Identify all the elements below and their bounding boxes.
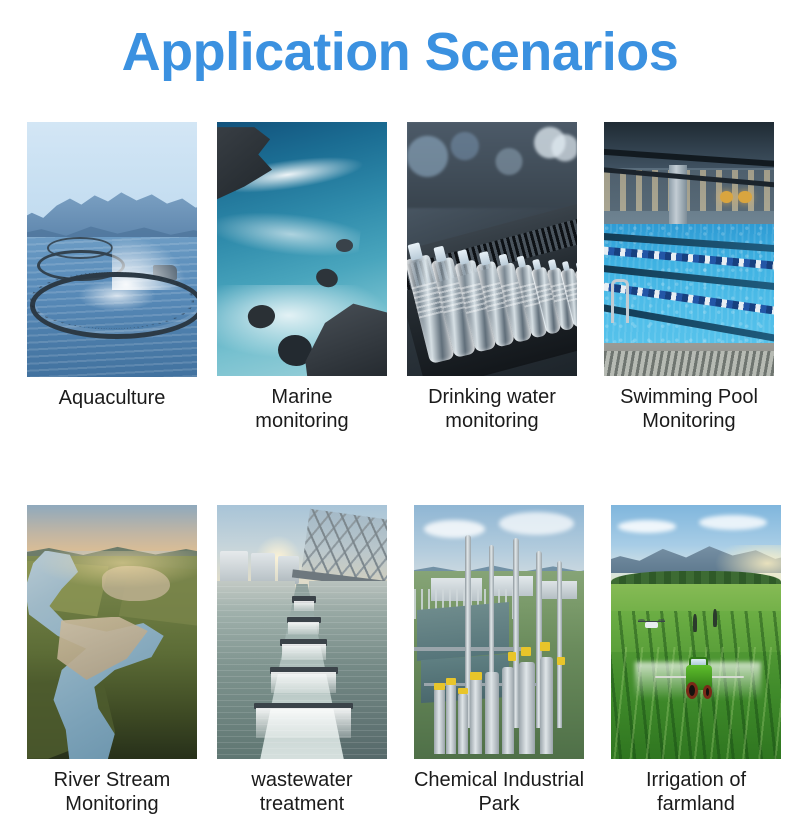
caption-line: Chemical Industrial <box>414 769 584 791</box>
scenario-card-swimming-pool-monitoring[interactable]: Swimming Pool Monitoring <box>596 122 782 434</box>
caption-drinking-water-monitoring: Drinking water monitoring <box>399 385 585 434</box>
caption-chemical-industrial-park: Chemical Industrial Park <box>406 768 592 817</box>
wastewater-treatment-photo <box>217 505 387 759</box>
scenario-card-irrigation-of-farmland[interactable]: Irrigation of farmland <box>610 505 782 817</box>
scenario-card-drinking-water-monitoring[interactable]: Drinking water monitoring <box>406 122 578 434</box>
caption-line: monitoring <box>255 410 348 432</box>
caption-line: Drinking water <box>428 386 556 408</box>
marine-monitoring-photo <box>217 122 387 376</box>
scenario-row-1: Aquaculture Marine <box>26 122 782 434</box>
caption-line: Monitoring <box>65 793 158 815</box>
caption-line: farmland <box>657 793 735 815</box>
caption-line: treatment <box>260 793 344 815</box>
scenario-card-chemical-industrial-park[interactable]: Chemical Industrial Park <box>406 505 592 817</box>
caption-line: Marine <box>271 386 332 408</box>
agricultural-drone <box>638 617 665 632</box>
caption-line: Aquaculture <box>59 387 166 409</box>
scenario-grid: Aquaculture Marine <box>26 122 782 817</box>
caption-line: River Stream <box>54 769 171 791</box>
caption-line: Irrigation of <box>646 769 746 791</box>
chemical-industrial-park-photo <box>414 505 584 759</box>
tractor <box>679 657 720 700</box>
caption-line: Monitoring <box>642 410 735 432</box>
caption-aquaculture: Aquaculture <box>19 386 205 410</box>
caption-river-stream-monitoring: River Stream Monitoring <box>19 768 205 817</box>
scenario-card-marine-monitoring[interactable]: Marine monitoring <box>216 122 388 434</box>
caption-line: monitoring <box>445 410 538 432</box>
scenario-card-aquaculture[interactable]: Aquaculture <box>26 122 198 410</box>
caption-irrigation-of-farmland: Irrigation of farmland <box>603 768 789 817</box>
caption-marine-monitoring: Marine monitoring <box>209 385 395 434</box>
caption-line: Swimming Pool <box>620 386 758 408</box>
river-stream-monitoring-photo <box>27 505 197 759</box>
caption-wastewater-treatment: wastewater treatment <box>209 768 395 817</box>
page-title: Application Scenarios <box>0 24 800 81</box>
caption-line: wastewater <box>251 769 352 791</box>
application-scenarios-page: Application Scenarios <box>0 0 800 774</box>
scenario-card-river-stream-monitoring[interactable]: River Stream Monitoring <box>26 505 198 817</box>
scenario-card-wastewater-treatment[interactable]: wastewater treatment <box>216 505 388 817</box>
scenario-row-2: River Stream Monitoring <box>26 505 782 817</box>
drinking-water-monitoring-photo <box>407 122 577 376</box>
bottle-row <box>407 127 577 365</box>
aquaculture-photo <box>27 122 197 377</box>
caption-line: Park <box>478 793 519 815</box>
irrigation-of-farmland-photo <box>611 505 781 759</box>
swimming-pool-monitoring-photo <box>604 122 774 376</box>
caption-swimming-pool-monitoring: Swimming Pool Monitoring <box>596 385 782 434</box>
